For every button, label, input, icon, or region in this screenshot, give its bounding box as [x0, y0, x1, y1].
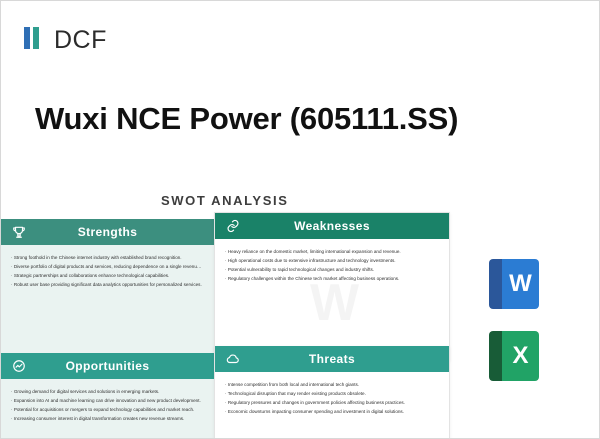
excel-spreadsheet-icon[interactable]: X: [489, 331, 539, 381]
brand-logo-block: DCF: [23, 25, 107, 56]
threats-header: Threats: [215, 346, 449, 372]
strengths-body: Strong foothold in the Chinese internet …: [1, 245, 214, 296]
strengths-header: Strengths: [1, 219, 214, 245]
page-title: Wuxi NCE Power (605111.SS): [35, 101, 458, 137]
dcf-bars-logo-icon: [23, 25, 45, 56]
list-item: Intense competition from both local and …: [225, 381, 439, 390]
weaknesses-title: Weaknesses: [294, 219, 370, 233]
opportunities-title: Opportunities: [66, 359, 150, 373]
opportunities-body: Growing demand for digital services and …: [1, 379, 214, 430]
swot-quadrant-weaknesses: Weaknesses Heavy reliance on the domesti…: [214, 212, 450, 361]
watermark-letter: W: [310, 277, 359, 329]
list-item: High operational costs due to extensive …: [225, 257, 439, 266]
link-icon: [225, 218, 241, 234]
swot-analysis-section: SWOT ANALYSIS Strengths Strong footh: [1, 183, 600, 439]
word-icon-letter: W: [509, 270, 532, 298]
list-item: Strategic partnerships and collaboration…: [11, 272, 204, 281]
list-item: Expansion into AI and machine learning c…: [11, 397, 204, 406]
strengths-list: Strong foothold in the Chinese internet …: [11, 254, 204, 290]
list-item: Heavy reliance on the domestic market, l…: [225, 248, 439, 257]
list-item: Strong foothold in the Chinese internet …: [11, 254, 204, 263]
brand-name: DCF: [54, 28, 107, 53]
chart-line-icon: [11, 358, 27, 374]
list-item: Regulatory challenges within the Chinese…: [225, 275, 439, 284]
list-item: Increasing consumer interest in digital …: [11, 415, 204, 424]
opportunities-header: Opportunities: [1, 353, 214, 379]
cloud-icon: [225, 351, 241, 367]
strengths-title: Strengths: [78, 225, 138, 239]
list-item: Economic downturns impacting consumer sp…: [225, 408, 439, 417]
list-item: Potential for acquisitions or mergers to…: [11, 406, 204, 415]
list-item: Growing demand for digital services and …: [11, 388, 204, 397]
excel-icon-face: X: [502, 331, 539, 381]
list-item: Technological disruption that may render…: [225, 390, 439, 399]
threats-body: Intense competition from both local and …: [215, 372, 449, 423]
weaknesses-header: Weaknesses: [215, 213, 449, 239]
trophy-icon: [11, 224, 27, 240]
swot-quadrant-opportunities: Opportunities Growing demand for digital…: [1, 353, 214, 439]
word-icon-spine: [489, 259, 502, 309]
threats-title: Threats: [309, 352, 355, 366]
weaknesses-body: Heavy reliance on the domestic market, l…: [215, 239, 449, 290]
list-item: Diverse portfolio of digital products an…: [11, 263, 204, 272]
threats-list: Intense competition from both local and …: [225, 381, 439, 417]
excel-icon-letter: X: [512, 342, 528, 370]
word-icon-face: W: [502, 259, 539, 309]
swot-quadrant-threats: Threats Intense competition from both lo…: [214, 346, 450, 439]
weaknesses-list: Heavy reliance on the domestic market, l…: [225, 248, 439, 284]
word-document-icon[interactable]: W: [489, 259, 539, 309]
list-item: Potential vulnerability to rapid technol…: [225, 266, 439, 275]
list-item: Robust user base providing significant d…: [11, 281, 204, 290]
swot-heading: SWOT ANALYSIS: [161, 193, 288, 208]
list-item: Regulatory pressures and changes in gove…: [225, 399, 439, 408]
document-page: DCF Wuxi NCE Power (605111.SS) SWOT ANAL…: [0, 0, 600, 439]
swot-quadrant-strengths: Strengths Strong foothold in the Chinese…: [1, 219, 214, 354]
opportunities-list: Growing demand for digital services and …: [11, 388, 204, 424]
excel-icon-spine: [489, 331, 502, 381]
